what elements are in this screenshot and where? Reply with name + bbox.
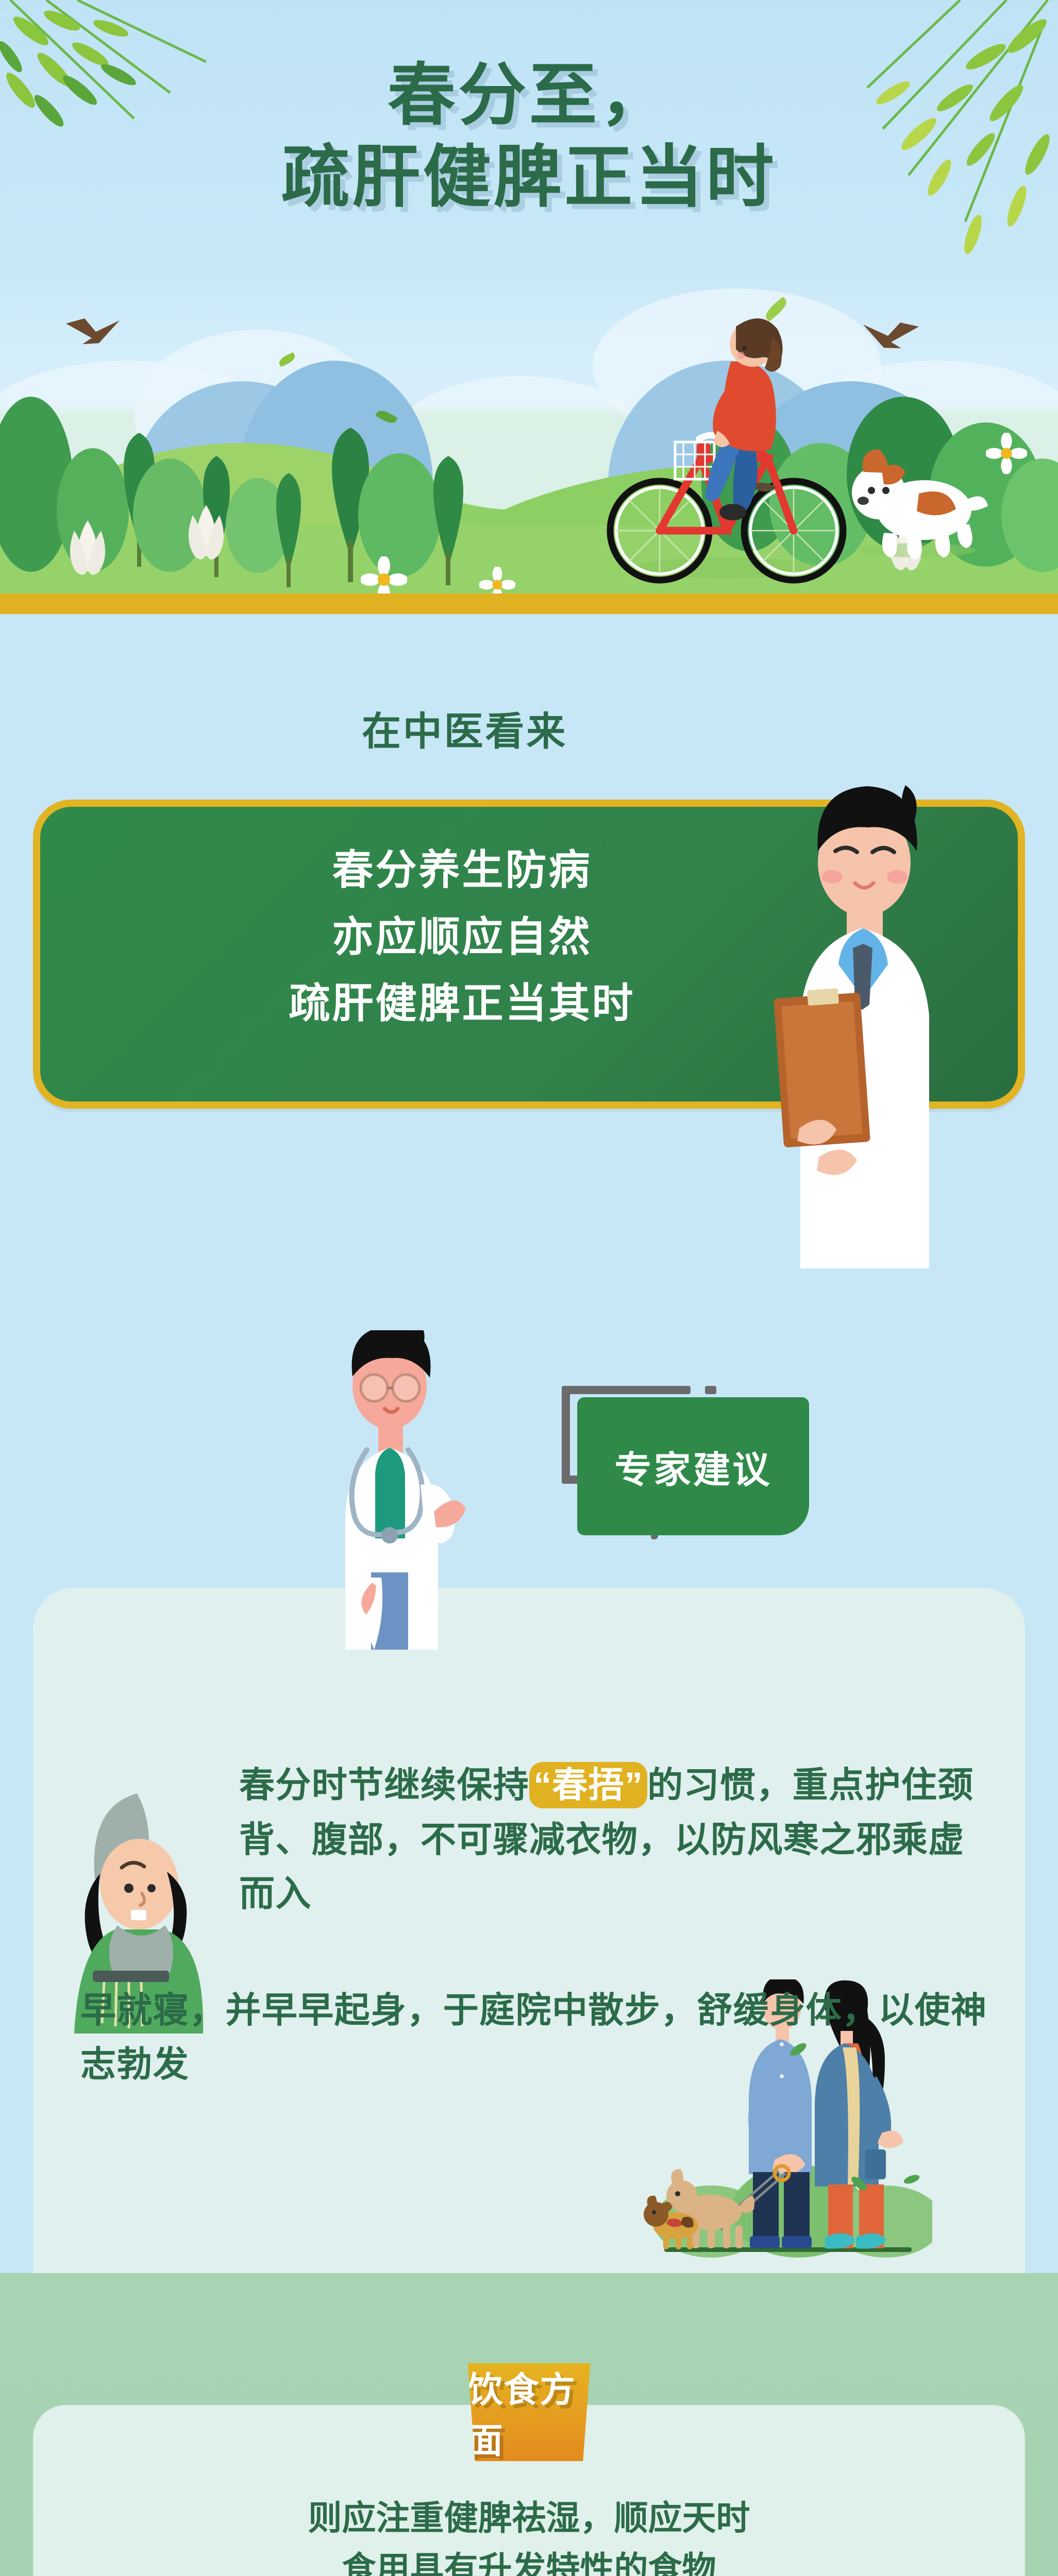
diet-intro-line-2: 食用具有升发特性的食物 <box>33 2544 1025 2576</box>
tcm-heading: 在中医看来 <box>0 619 1058 756</box>
diet-section: 饮食方面 则应注重健脾祛湿，顺应天时 食用具有升发特性的食物 <box>0 2273 1058 2576</box>
advice-p1-highlight: “春捂” <box>529 1762 647 1808</box>
daisy-icon <box>479 567 515 594</box>
expert-advice-bubble: 专家建议 <box>562 1386 809 1535</box>
flower-icon <box>175 495 237 577</box>
swallow-icon <box>857 319 924 371</box>
tcm-view-section: 在中医看来 春分养生防病 亦应顺应自然 疏肝健脾正当其时 <box>0 614 1058 1299</box>
advice-paragraph-2: 早就寝，并早早起身，于庭院中散步，舒缓身体，以使神志勃发 <box>80 1983 989 2092</box>
advice-p1-before: 春分时节继续保持 <box>239 1765 529 1805</box>
swallow-icon <box>62 314 124 361</box>
gold-divider-band <box>0 594 1058 614</box>
bubble-dot <box>705 1386 716 1394</box>
dog-icon <box>842 433 996 562</box>
flower-icon <box>57 510 119 592</box>
daisy-icon <box>361 556 407 594</box>
expert-advice-section: 专家建议 <box>0 1299 1058 2273</box>
bubble-label: 专家建议 <box>614 1439 771 1494</box>
diet-intro-line-1: 则应注重健脾祛湿，顺应天时 <box>33 2493 1025 2544</box>
hero-title: 春分至， 疏肝健脾正当时 <box>0 56 1058 219</box>
bubble-frame-top <box>562 1386 691 1394</box>
doctor-with-clipboard-illustration <box>754 774 976 1268</box>
advice-card: 春分时节继续保持“春捂”的习惯，重点护住颈背、腹部，不可骤减衣物，以防风寒之邪乘… <box>33 1588 1025 2273</box>
infographic-poster: 春分至， 疏肝健脾正当时 <box>0 0 1058 2576</box>
diet-tag-label: 饮食方面 <box>468 2361 591 2463</box>
hero-banner: 春分至， 疏肝健脾正当时 <box>0 0 1058 594</box>
cyclist-illustration <box>598 304 866 592</box>
bubble-body: 专家建议 <box>577 1397 809 1535</box>
hero-title-line1: 春分至， <box>0 56 1058 136</box>
doctor-presenting-illustration <box>289 1330 505 1650</box>
bubble-frame-left <box>562 1386 570 1484</box>
hero-title-line2: 疏肝健脾正当时 <box>0 136 1058 219</box>
advice-paragraph-1: 春分时节继续保持“春捂”的习惯，重点护住颈背、腹部，不可骤减衣物，以防风寒之邪乘… <box>239 1758 989 1921</box>
diet-section-tag: 饮食方面 <box>468 2363 591 2461</box>
